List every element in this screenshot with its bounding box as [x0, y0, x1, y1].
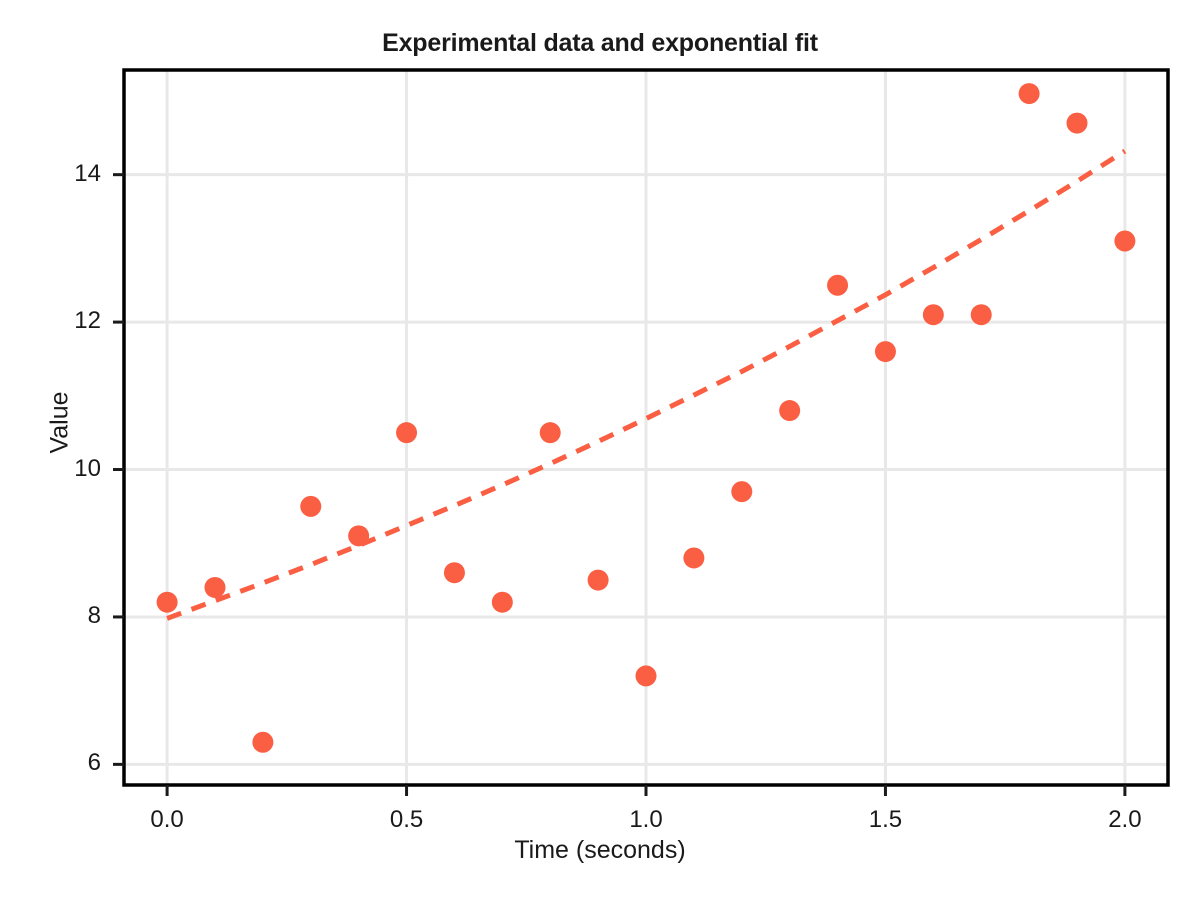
- data-point: [204, 577, 225, 598]
- chart-figure: Experimental data and exponential fit Va…: [0, 0, 1200, 900]
- data-point: [492, 592, 513, 613]
- data-point: [540, 422, 561, 443]
- x-axis-tick-label: 0.0: [127, 806, 207, 834]
- data-point: [1019, 83, 1040, 104]
- data-point: [779, 400, 800, 421]
- data-point: [157, 592, 178, 613]
- data-point: [444, 562, 465, 583]
- plot-area: [0, 0, 1200, 900]
- data-point: [396, 422, 417, 443]
- data-point: [252, 732, 273, 753]
- y-axis-tick-label: 10: [31, 455, 101, 483]
- data-point: [731, 481, 752, 502]
- data-point: [971, 304, 992, 325]
- data-point: [300, 496, 321, 517]
- x-axis-tick-label: 1.5: [845, 806, 925, 834]
- data-point: [636, 665, 657, 686]
- x-axis-tick-label: 0.5: [367, 806, 447, 834]
- data-point: [683, 547, 704, 568]
- y-axis-tick-label: 14: [31, 160, 101, 188]
- y-axis-tick-label: 12: [31, 307, 101, 335]
- y-axis-tick-label: 8: [31, 602, 101, 630]
- data-point: [588, 570, 609, 591]
- x-axis-tick-label: 2.0: [1085, 806, 1165, 834]
- data-point: [1067, 113, 1088, 134]
- data-point: [875, 341, 896, 362]
- x-axis-tick-label: 1.0: [606, 806, 686, 834]
- data-point: [1114, 231, 1135, 252]
- y-axis-tick-label: 6: [31, 749, 101, 777]
- data-point: [827, 275, 848, 296]
- data-point: [923, 304, 944, 325]
